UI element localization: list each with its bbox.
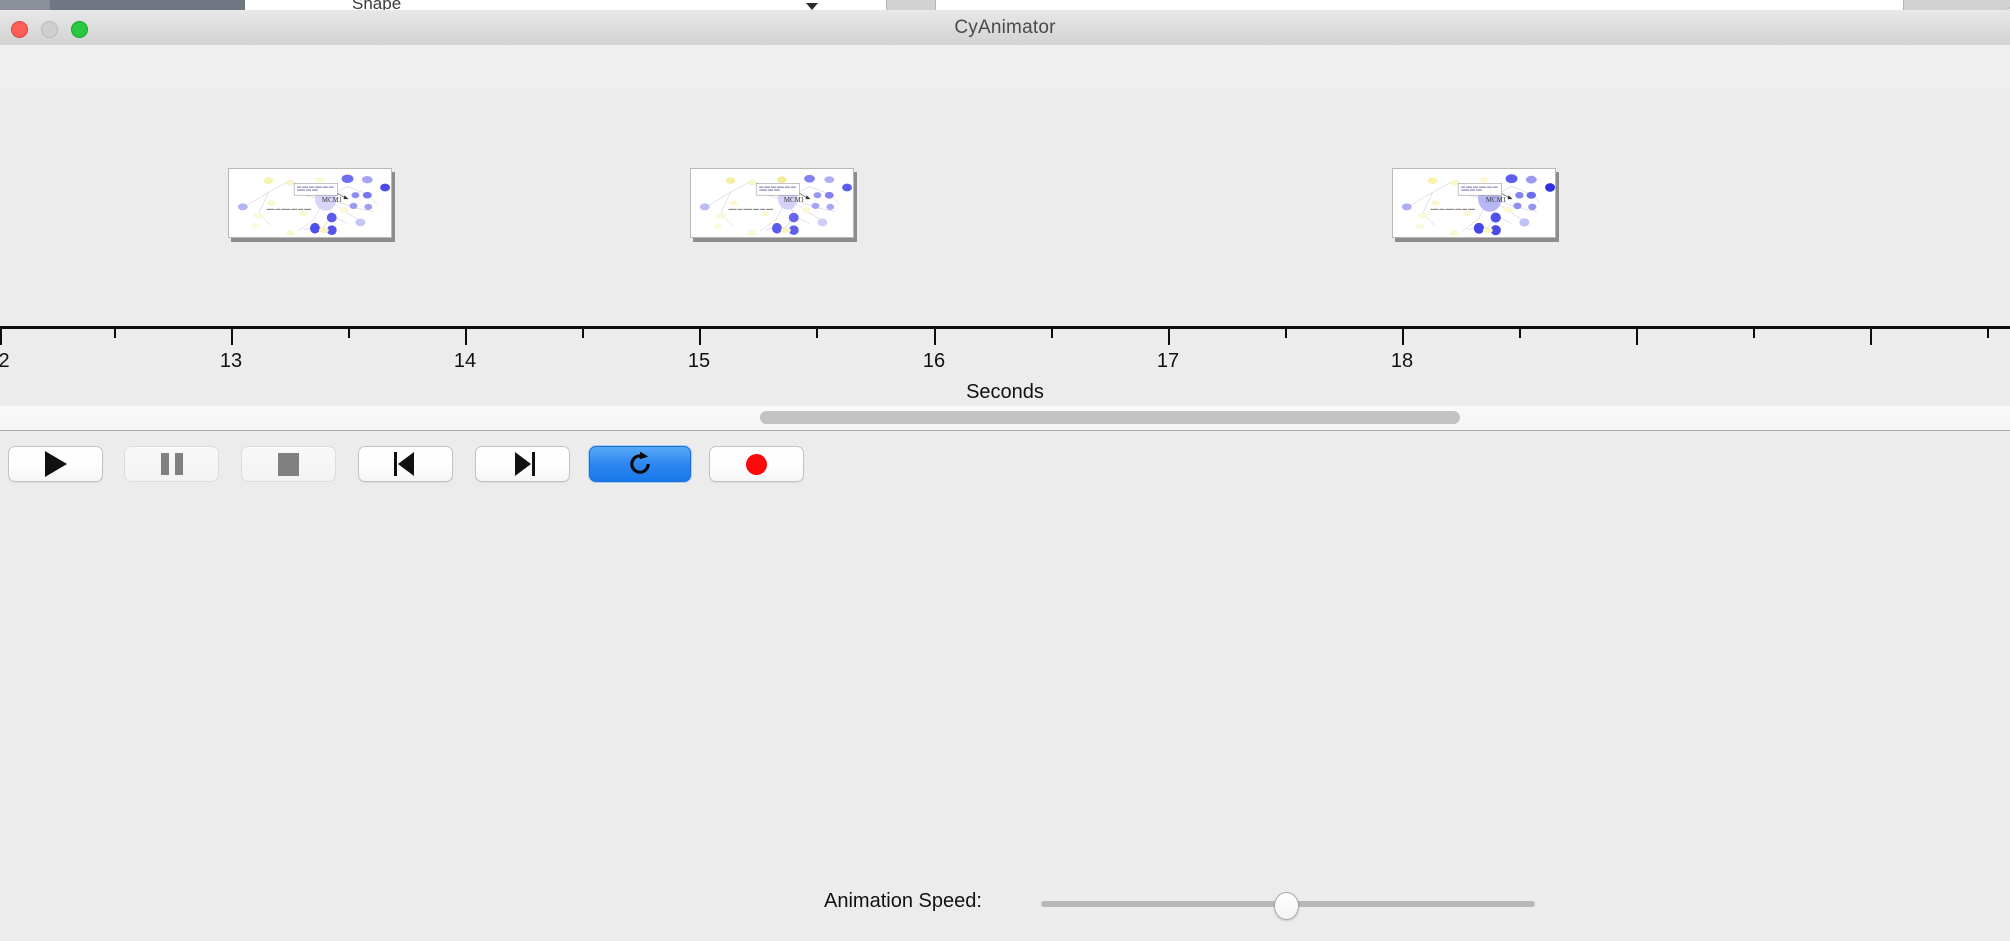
- ruler-tick-major: [699, 329, 701, 345]
- ruler-tick-major: [1168, 329, 1170, 345]
- ruler-label: 17: [1157, 350, 1179, 373]
- pause-icon: [161, 453, 183, 475]
- ruler-label: 14: [454, 350, 476, 373]
- cyanimator-window: Shape CyAnimator Clear All Frames: [0, 0, 2010, 510]
- ruler-tick-major: [465, 329, 467, 345]
- timeline-axis-label: Seconds: [0, 381, 2010, 404]
- svg-text:MCM1: MCM1: [322, 197, 343, 204]
- background-marker-icon: [806, 3, 818, 10]
- ruler-tick-minor: [816, 329, 818, 338]
- loop-button[interactable]: [589, 446, 691, 482]
- ruler-tick-major: [934, 329, 936, 345]
- ruler-tick-major: [0, 329, 2, 345]
- ruler-tick-minor: [1285, 329, 1287, 338]
- play-icon: [45, 451, 67, 477]
- ruler-tick-major: [1870, 329, 1872, 345]
- pause-button[interactable]: [124, 446, 219, 482]
- toolbar: Clear All Frames: [0, 45, 2010, 90]
- horizontal-scrollbar-thumb[interactable]: [760, 411, 1460, 424]
- ruler-label: 15: [688, 350, 710, 373]
- timeline-ruler-line: [0, 326, 2010, 329]
- timeline-panel: MCM1: [0, 89, 2010, 407]
- svg-text:MCM1: MCM1: [1486, 197, 1507, 204]
- animation-speed-label: Animation Speed:: [824, 862, 982, 941]
- window-title: CyAnimator: [0, 10, 2010, 45]
- ruler-label: 18: [1391, 350, 1413, 373]
- ruler-tick-minor: [1987, 329, 1989, 338]
- ruler-label: 13: [220, 350, 242, 373]
- network-thumbnail-3: MCM1: [1393, 169, 1555, 237]
- ruler-tick-minor: [114, 329, 116, 338]
- network-thumbnail-1: MCM1: [229, 169, 391, 237]
- ruler-tick-minor: [1753, 329, 1755, 338]
- stop-icon: [278, 453, 299, 476]
- network-thumbnail-2: MCM1: [691, 169, 853, 237]
- ruler-tick-minor: [348, 329, 350, 338]
- svg-text:MCM1: MCM1: [784, 197, 805, 204]
- stop-button[interactable]: [241, 446, 336, 482]
- ruler-tick-minor: [1519, 329, 1521, 338]
- skip-to-start-button[interactable]: [358, 446, 453, 482]
- skip-to-end-button[interactable]: [475, 446, 570, 482]
- ruler-tick-major: [231, 329, 233, 345]
- ruler-tick-minor: [1051, 329, 1053, 338]
- ruler-label: 16: [923, 350, 945, 373]
- timeline-frame-3[interactable]: MCM1: [1392, 168, 1556, 238]
- title-bar: CyAnimator: [0, 10, 2010, 46]
- play-button[interactable]: [8, 446, 103, 482]
- ruler-label: 2: [0, 350, 10, 373]
- ruler-tick-minor: [582, 329, 584, 338]
- timeline-frame-1[interactable]: MCM1: [228, 168, 392, 238]
- horizontal-scrollbar-track[interactable]: [0, 406, 2010, 431]
- record-button[interactable]: [709, 446, 804, 482]
- skip-to-end-icon: [511, 452, 535, 476]
- record-icon: [746, 454, 767, 475]
- animation-speed-slider-thumb[interactable]: [1274, 892, 1299, 920]
- ruler-tick-major: [1636, 329, 1638, 345]
- playback-control-bar: Animation Speed:: [0, 431, 2010, 510]
- skip-to-start-icon: [394, 452, 418, 476]
- timeline-frame-2[interactable]: MCM1: [690, 168, 854, 238]
- ruler-tick-major: [1402, 329, 1404, 345]
- loop-icon: [626, 450, 654, 478]
